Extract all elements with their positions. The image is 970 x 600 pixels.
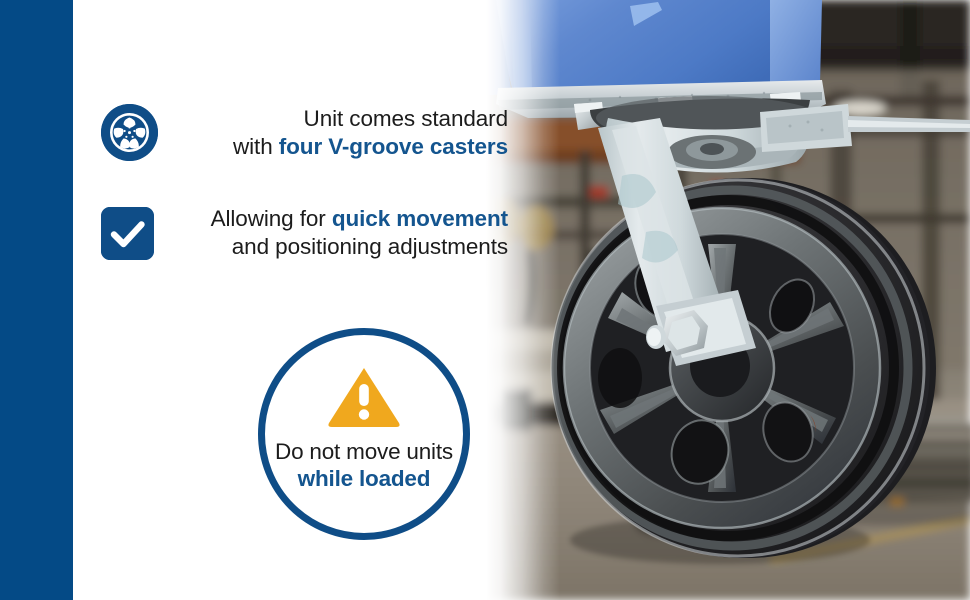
checkmark-icon	[101, 207, 154, 260]
caster-wheel-icon	[101, 104, 158, 161]
warning-line1: Do not move units	[275, 439, 453, 464]
feature-casters-line2-highlight: four V-groove casters	[279, 134, 508, 159]
feature-item-casters: Unit comes standard with four V-groove c…	[101, 104, 521, 161]
v-groove-caster-photograph	[470, 0, 970, 600]
feature-casters-line2-plain: with	[233, 134, 279, 159]
feature-content: Unit comes standard with four V-groove c…	[73, 0, 503, 600]
warning-triangle-icon	[327, 365, 401, 427]
warning-callout: Do not move units while loaded	[258, 328, 470, 540]
warning-line2: while loaded	[275, 465, 453, 492]
feature-movement-line2: and positioning adjustments	[154, 233, 508, 261]
brand-bar	[0, 0, 73, 600]
promo-graphic: Unit comes standard with four V-groove c…	[0, 0, 970, 600]
feature-movement-text: Allowing for quick movement and position…	[154, 205, 521, 261]
warning-text: Do not move units while loaded	[275, 438, 453, 492]
feature-item-movement: Allowing for quick movement and position…	[101, 205, 521, 261]
feature-movement-line1-plain: Allowing for	[211, 206, 332, 231]
feature-movement-line1-highlight: quick movement	[332, 206, 508, 231]
feature-casters-text: Unit comes standard with four V-groove c…	[158, 105, 521, 161]
feature-casters-line1: Unit comes standard	[158, 105, 508, 133]
